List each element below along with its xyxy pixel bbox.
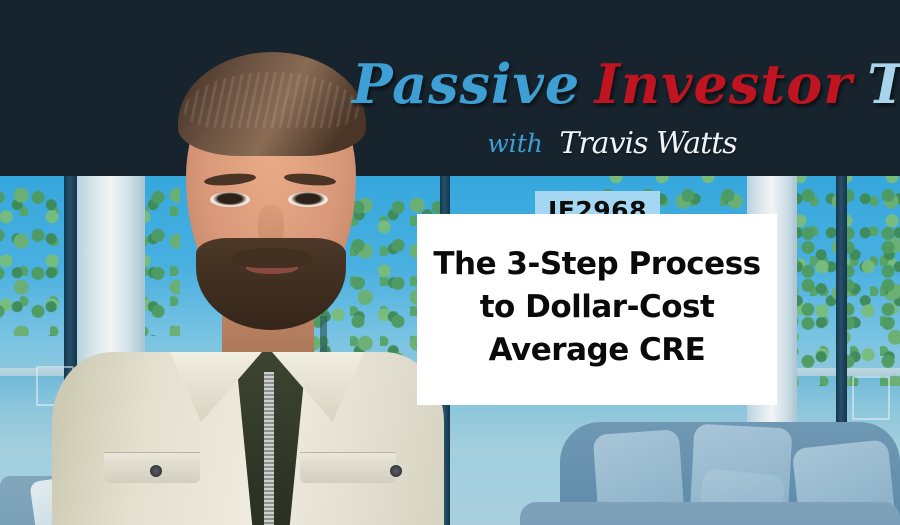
podcast-thumbnail: Passive Investor Tips with Travis Watts … — [0, 0, 900, 525]
episode-title: The 3-Step Process to Dollar-Cost Averag… — [427, 243, 766, 376]
with-label: with — [487, 129, 543, 158]
brand-word-tips: Tips — [867, 52, 900, 116]
eye — [288, 192, 328, 207]
host-credit-line: with Travis Watts — [352, 126, 872, 161]
hair — [178, 52, 366, 156]
sofa-seat — [520, 502, 900, 525]
episode-title-card: The 3-Step Process to Dollar-Cost Averag… — [417, 214, 777, 405]
title-line-3: Average CRE — [433, 329, 760, 372]
title-line-1: The 3-Step Process — [433, 243, 760, 286]
mustache — [232, 248, 312, 268]
brand-word-investor: Investor — [595, 52, 853, 116]
host-signature: Travis Watts — [559, 126, 736, 161]
brand-wordmark: Passive Investor Tips — [352, 52, 872, 122]
title-line-2: to Dollar-Cost — [433, 286, 760, 329]
eye — [210, 192, 250, 207]
brand-word-passive: Passive — [352, 52, 580, 116]
patio-chair — [852, 376, 890, 420]
